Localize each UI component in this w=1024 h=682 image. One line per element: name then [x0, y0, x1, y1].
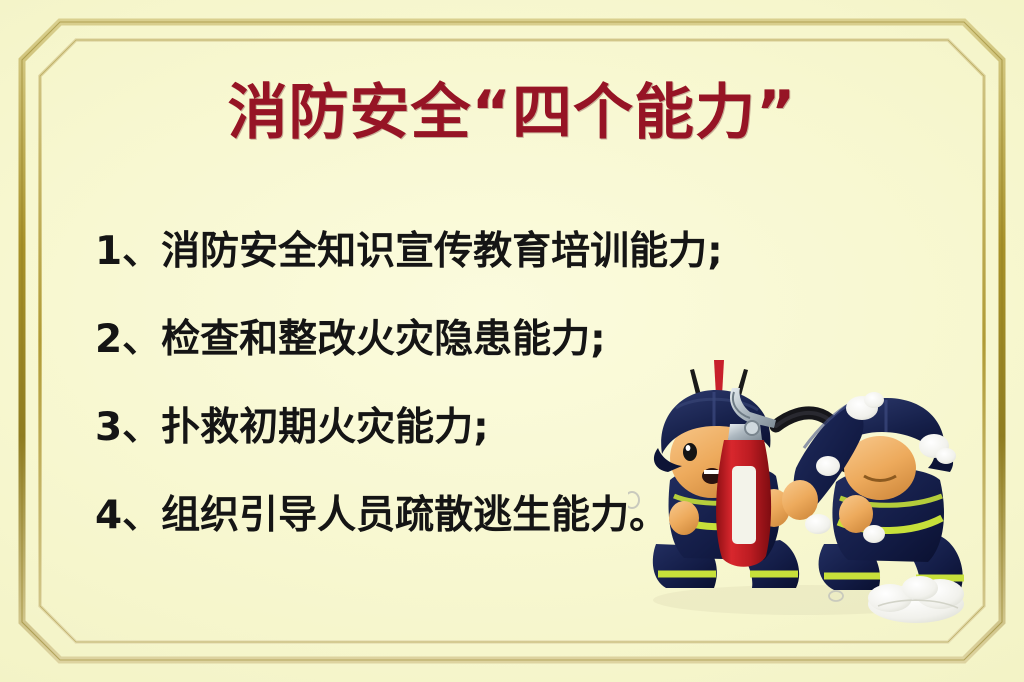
- left-ff-hand-lower: [669, 501, 699, 535]
- poster-title-wrap: 消防安全“四个能力”: [0, 82, 1024, 145]
- right-ff-hand-upper: [782, 480, 818, 520]
- poster-title: 消防安全“四个能力”: [228, 82, 797, 145]
- ability-item-1: 1、消防安全知识宣传教育培训能力;: [95, 207, 795, 295]
- firefighters-illustration: [628, 348, 974, 636]
- fire-safety-poster: 消防安全“四个能力” 1、消防安全知识宣传教育培训能力; 2、检查和整改火灾隐患…: [0, 0, 1024, 682]
- extinguisher-label: [732, 466, 756, 544]
- foam-pile: [868, 576, 964, 623]
- foam-ring-left: [628, 492, 639, 508]
